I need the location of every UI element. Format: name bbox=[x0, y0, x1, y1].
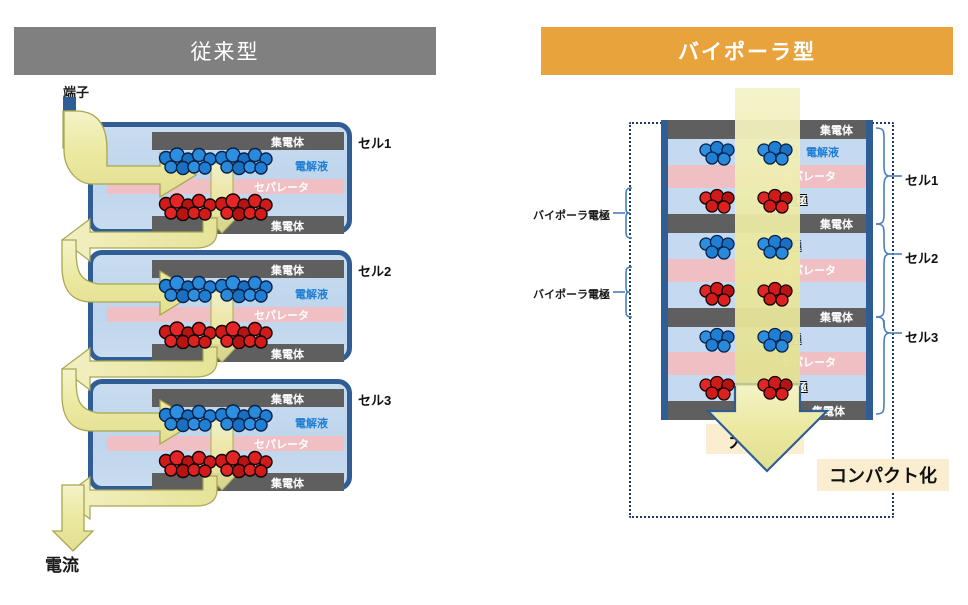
cathode-label: 正極 bbox=[785, 192, 807, 208]
stack-wall-left bbox=[661, 120, 668, 420]
separator-layer bbox=[661, 352, 873, 375]
cathode-label: 正極 bbox=[238, 456, 260, 472]
cathode-label: 正極 bbox=[238, 199, 260, 215]
figure-canvas: 従来型 バイポーラ型 端子 電流 集電体 セパレータ 電解液 負極 正極 集電体… bbox=[0, 0, 968, 605]
cell-name-2: セル2 bbox=[358, 261, 391, 280]
anode-label: 負極 bbox=[779, 331, 801, 347]
separator-label: セパレータ bbox=[781, 262, 836, 278]
electrolyte-label: 電解液 bbox=[295, 158, 328, 174]
electrolyte-label: 電解液 bbox=[806, 144, 839, 160]
large-current-callout: 大電流 bbox=[706, 424, 804, 454]
bipolar-cell-name-1: セル1 bbox=[905, 170, 938, 189]
bipolar-electrode-label-1: バイポーラ電極 bbox=[533, 207, 610, 223]
separator-label: セパレータ bbox=[254, 436, 309, 452]
terminal-label: 端子 bbox=[63, 82, 89, 101]
collector-label: 集電体 bbox=[820, 122, 853, 138]
collector-label: 集電体 bbox=[271, 346, 304, 362]
bipolar-cell-name-2: セル2 bbox=[905, 248, 938, 267]
electrolyte-label: 電解液 bbox=[295, 286, 328, 302]
anode-label: 負極 bbox=[779, 238, 801, 254]
collector-bar bbox=[152, 344, 344, 362]
collector-label: 集電体 bbox=[271, 134, 304, 150]
cathode-label: 正極 bbox=[238, 327, 260, 343]
separator-label: セパレータ bbox=[254, 307, 309, 323]
separator-label: セパレータ bbox=[254, 179, 309, 195]
separator-label: セパレータ bbox=[781, 354, 836, 370]
anode-layer bbox=[661, 233, 873, 259]
cathode-layer bbox=[661, 375, 873, 401]
collector-bar bbox=[152, 260, 344, 278]
bipolar-cell-name-3: セル3 bbox=[905, 327, 938, 346]
separator-layer bbox=[661, 165, 873, 188]
panel-title-conventional: 従来型 bbox=[14, 27, 436, 75]
collector-bar bbox=[152, 216, 344, 234]
cell-name-3: セル3 bbox=[358, 390, 391, 409]
collector-label: 集電体 bbox=[812, 403, 845, 419]
collector-label: 集電体 bbox=[271, 475, 304, 491]
separator-label: セパレータ bbox=[781, 168, 836, 184]
cathode-label: 正極 bbox=[785, 379, 807, 395]
anode-layer bbox=[661, 139, 873, 165]
anode-layer bbox=[661, 327, 873, 352]
collector-label: 集電体 bbox=[820, 216, 853, 232]
collector-bar bbox=[152, 473, 344, 491]
separator-layer bbox=[661, 259, 873, 282]
cathode-layer bbox=[661, 282, 873, 308]
collector-label: 集電体 bbox=[820, 309, 853, 325]
electrolyte-label: 電解液 bbox=[295, 415, 328, 431]
panel-title-bipolar: バイポーラ型 bbox=[541, 27, 953, 75]
collector-label: 集電体 bbox=[271, 262, 304, 278]
collector-bar bbox=[152, 132, 344, 150]
bipolar-stack bbox=[661, 120, 873, 384]
collector-label: 集電体 bbox=[271, 391, 304, 407]
anode-label: 負極 bbox=[233, 283, 255, 299]
cathode-layer bbox=[661, 188, 873, 214]
anode-label: 負極 bbox=[233, 412, 255, 428]
collector-label: 集電体 bbox=[271, 218, 304, 234]
anode-label: 負極 bbox=[233, 155, 255, 171]
compact-callout: コンパクト化 bbox=[817, 459, 949, 491]
collector-bar bbox=[152, 389, 344, 407]
stack-wall-right bbox=[866, 120, 873, 420]
bipolar-electrode-label-2: バイポーラ電極 bbox=[533, 286, 610, 302]
current-label: 電流 bbox=[45, 551, 79, 576]
anode-label: 負極 bbox=[775, 144, 797, 160]
cell-name-1: セル1 bbox=[358, 133, 391, 152]
